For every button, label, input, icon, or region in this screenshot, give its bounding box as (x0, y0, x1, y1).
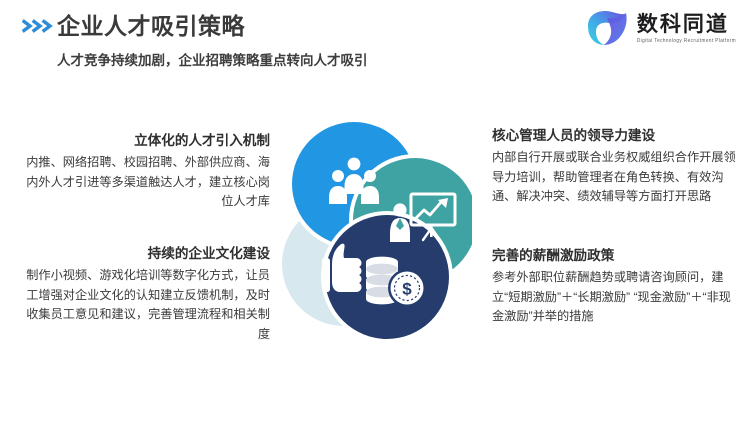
block-body: 内部自行开展或联合业务权威组织合作开展领导力培训，帮助管理者在角色转换、有效沟通… (492, 148, 740, 207)
block-body: 参考外部职位薪酬趋势或聘请咨询顾问，建立“短期激励”＋“长期激励” “现金激励”… (492, 268, 740, 327)
text-block-compensation: 完善的薪酬激励政策 参考外部职位薪酬趋势或聘请咨询顾问，建立“短期激励”＋“长期… (492, 245, 740, 327)
text-block-culture: 持续的企业文化建设 制作小视频、游戏化培训等数字化方式，让员工增强对企业文化的认… (22, 243, 270, 344)
page-subtitle: 人才竞争持续加剧，企业招聘策略重点转向人才吸引 (57, 51, 368, 71)
slide-header: 企业人才吸引策略 人才竞争持续加剧，企业招聘策略重点转向人才吸引 (0, 0, 750, 92)
block-body: 制作小视频、游戏化培训等数字化方式，让员工增强对企业文化的认知建立反馈机制，及时… (22, 266, 270, 344)
chevrons-right-icon (22, 18, 56, 34)
four-petal-venn-diagram: $ (282, 112, 472, 340)
block-title: 核心管理人员的领导力建设 (492, 125, 740, 146)
block-title: 立体化的人才引入机制 (22, 130, 270, 151)
text-block-talent-intake: 立体化的人才引入机制 内推、网络招聘、校园招聘、外部供应商、海内外人才引进等多渠… (22, 130, 270, 212)
brand-name-cn: 数科同道 (637, 13, 736, 37)
block-title: 持续的企业文化建设 (22, 243, 270, 264)
brand-name-en: Digital Technology Recruitment Platform (637, 37, 736, 46)
brand-logo: 数科同道 Digital Technology Recruitment Plat… (584, 8, 736, 48)
block-title: 完善的薪酬激励政策 (492, 245, 740, 266)
svg-text:$: $ (402, 280, 412, 299)
block-body: 内推、网络招聘、校园招聘、外部供应商、海内外人才引进等多渠道触达人才，建立核心岗… (22, 153, 270, 212)
brand-wordmark: 数科同道 Digital Technology Recruitment Plat… (637, 11, 736, 45)
slide-root: 企业人才吸引策略 人才竞争持续加剧，企业招聘策略重点转向人才吸引 (0, 0, 750, 422)
page-title: 企业人才吸引策略 (57, 11, 245, 41)
brand-swoosh-icon (584, 8, 630, 48)
text-block-leadership: 核心管理人员的领导力建设 内部自行开展或联合业务权威组织合作开展领导力培训，帮助… (492, 125, 740, 207)
